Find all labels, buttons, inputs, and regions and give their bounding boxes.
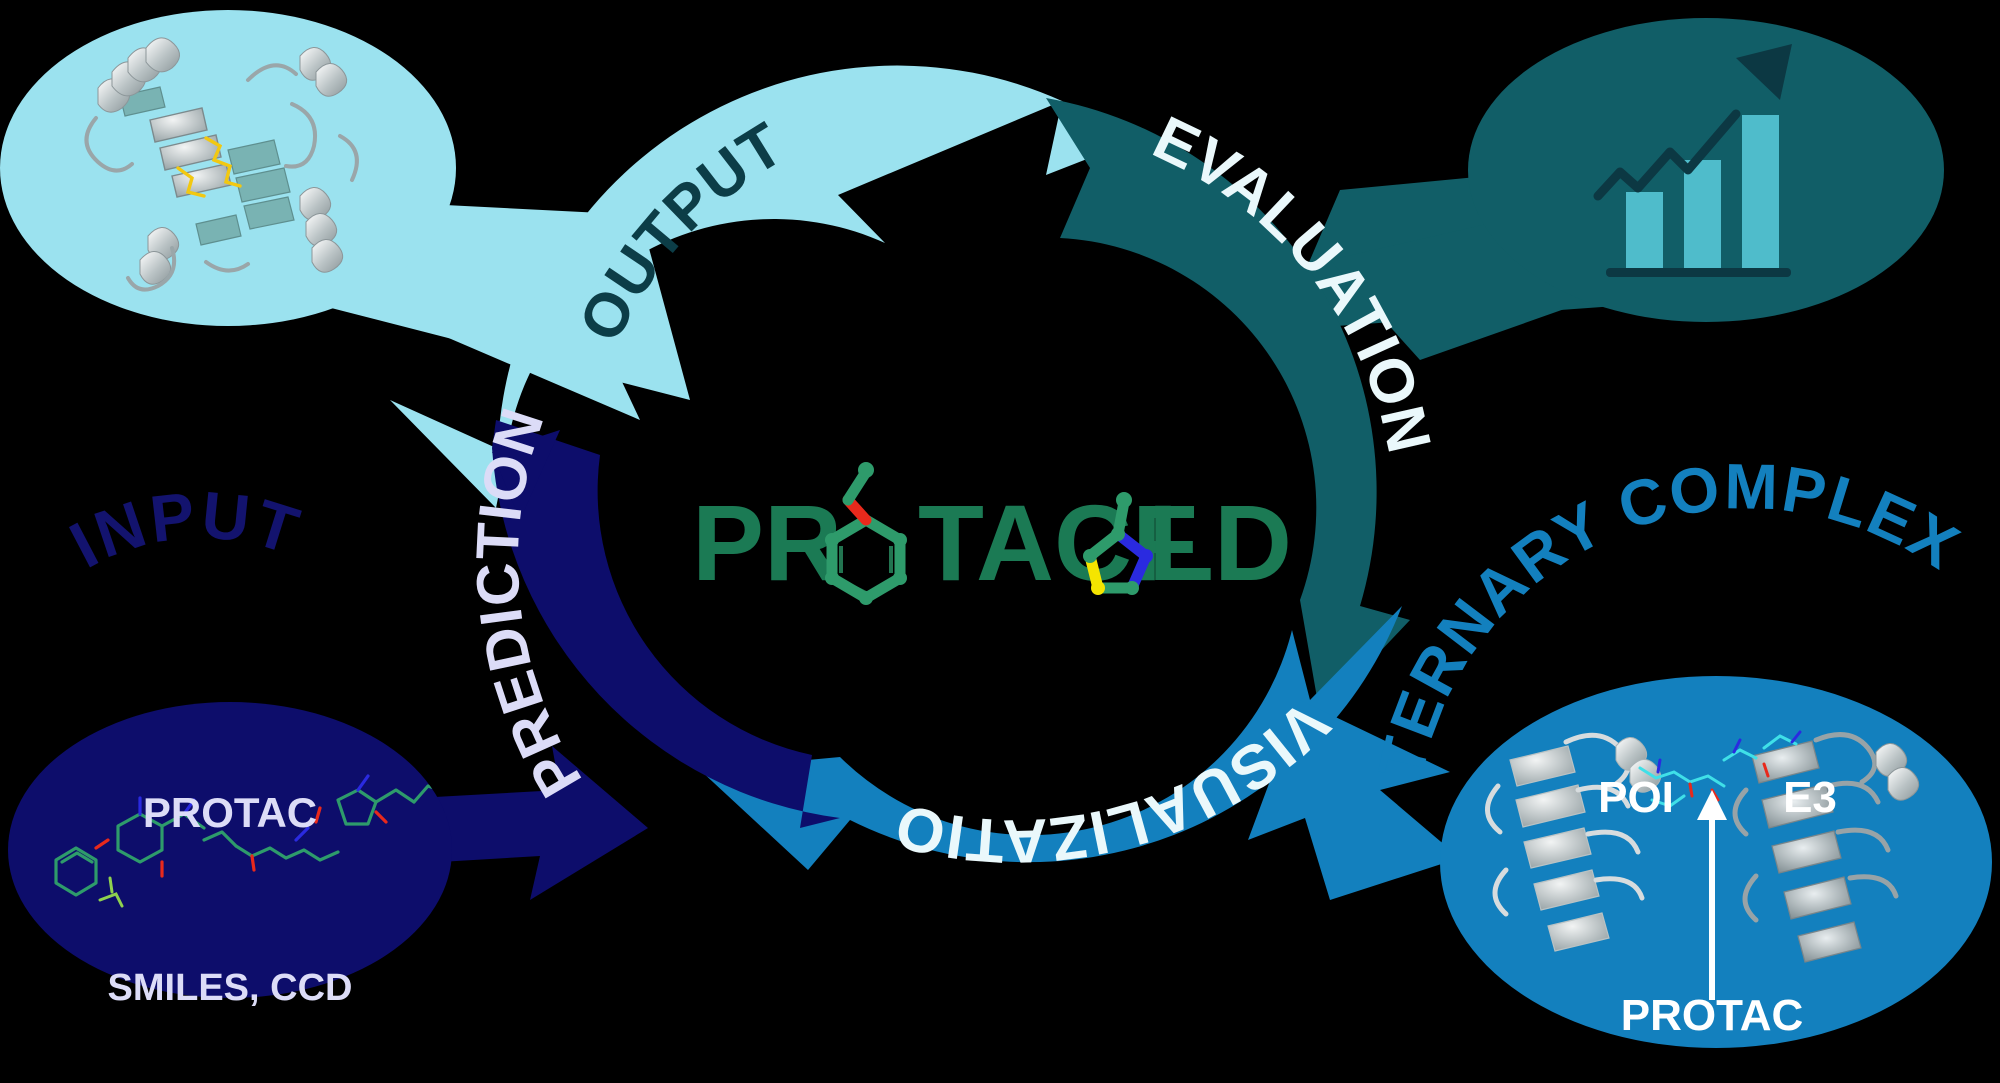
diagram-canvas: OUTPUT EVALUATION VISUALIZATION PREDICTI… (0, 0, 2000, 1083)
satellite-output-structure[interactable] (0, 10, 456, 326)
input-heading: INPUT (58, 477, 309, 582)
protacfold-logo[interactable]: PR TACF LD (692, 462, 1292, 605)
input-protac-label: PROTAC (143, 789, 317, 836)
satellite-evaluation-metrics[interactable] (1468, 18, 1944, 322)
chart-bar-2 (1684, 160, 1721, 268)
input-format-label: SMILES, CCD (108, 967, 353, 1009)
chart-bar-3 (1742, 115, 1779, 268)
logo-text-after: LD (1148, 482, 1292, 603)
ternary-e3-label: E3 (1783, 773, 1837, 822)
logo-text-before: PR (692, 482, 842, 603)
chart-baseline (1606, 268, 1791, 277)
ternary-poi-label: POI (1598, 773, 1674, 822)
diagram-svg: OUTPUT EVALUATION VISUALIZATION PREDICTI… (0, 0, 2000, 1083)
ternary-protac-label: PROTAC (1621, 991, 1804, 1040)
satellite-input[interactable] (8, 702, 452, 998)
chart-bar-1 (1626, 192, 1663, 268)
